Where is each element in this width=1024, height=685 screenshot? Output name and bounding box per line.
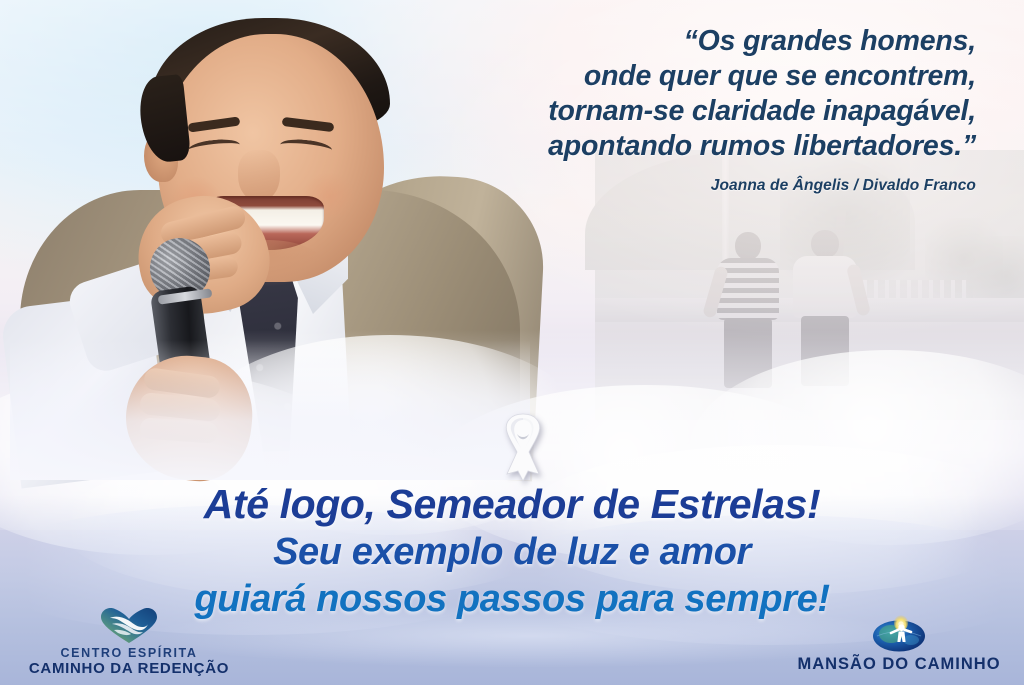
quote-block: “Os grandes homens, onde quer que se enc… <box>416 24 976 195</box>
quote-line-2: onde quer que se encontrem, <box>416 59 976 94</box>
logo-right-line-2: MANSÃO DO CAMINHO <box>784 656 1014 673</box>
quote-line-3: tornam-se claridade inapagável, <box>416 94 976 129</box>
logo-mansao-do-caminho: MANSÃO DO CAMINHO <box>784 612 1014 673</box>
quote-attribution: Joanna de Ângelis / Divaldo Franco <box>416 177 976 195</box>
headline-block: Até logo, Semeador de Estrelas! Seu exem… <box>0 484 1024 618</box>
quote-line-4: apontando rumos libertadores.” <box>416 129 976 164</box>
portrait-nose <box>238 150 280 202</box>
logo-left-line-2: CAMINHO DA REDENÇÃO <box>14 660 244 677</box>
headline-line-2: Seu exemplo de luz e amor <box>0 533 1024 571</box>
headline-line-1: Até logo, Semeador de Estrelas! <box>0 484 1024 525</box>
portrait-bottom-fade <box>10 340 530 480</box>
logo-left-line-1: CENTRO ESPÍRITA <box>14 646 244 660</box>
globe-figure-torch-icon <box>871 612 927 654</box>
logo-centro-espirita: CENTRO ESPÍRITA CAMINHO DA REDENÇÃO <box>14 606 244 677</box>
white-awareness-ribbon-icon <box>487 408 559 486</box>
memorial-poster: “Os grandes homens, onde quer que se enc… <box>0 0 1024 685</box>
quote-line-1: “Os grandes homens, <box>416 24 976 59</box>
heart-hands-icon <box>98 606 160 644</box>
